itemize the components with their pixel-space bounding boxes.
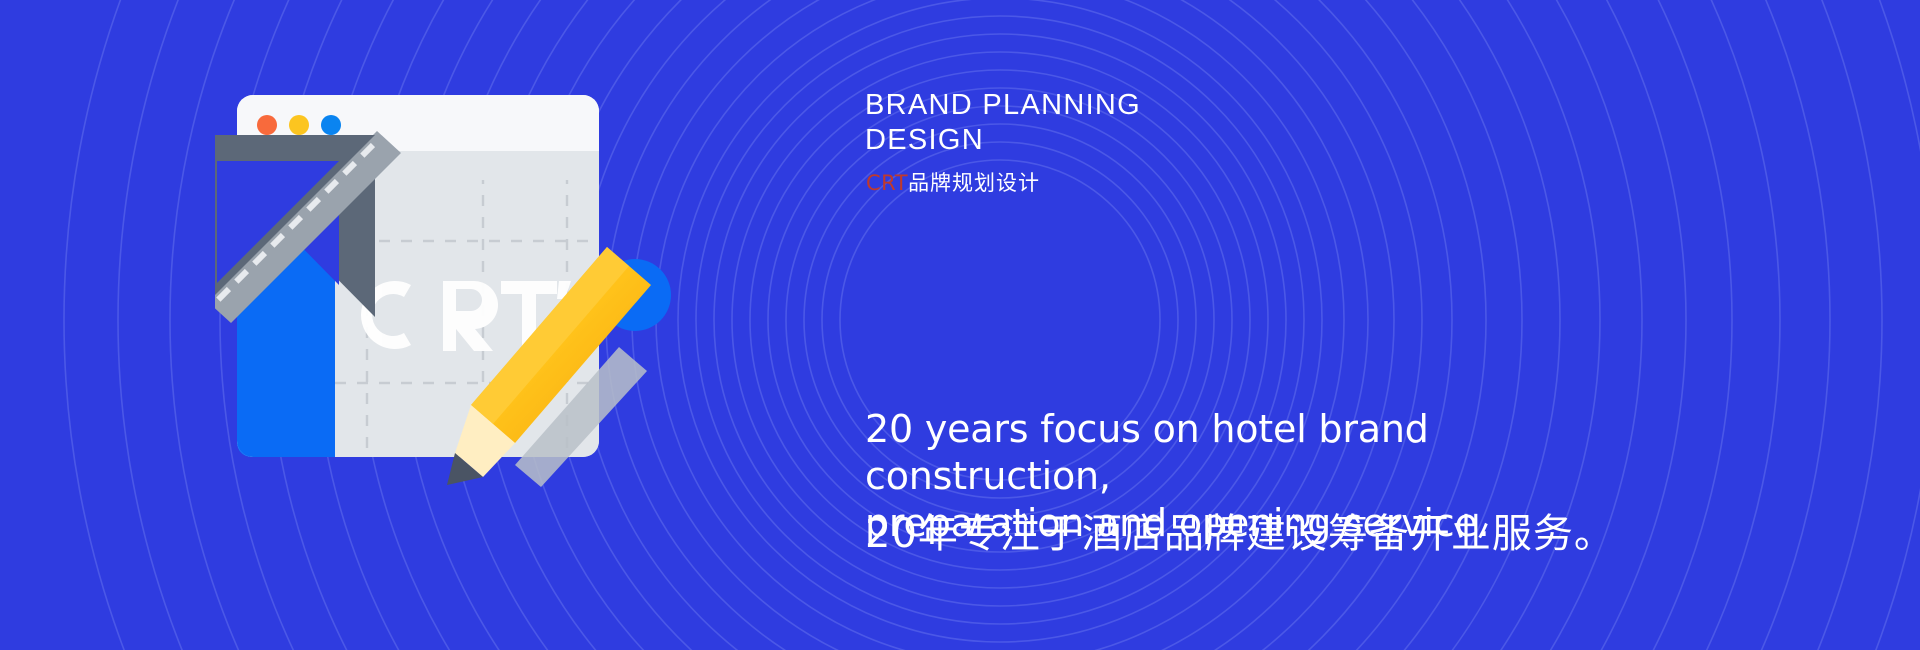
maximize-dot bbox=[321, 115, 341, 135]
eyebrow-heading: BRAND PLANNING DESIGN bbox=[865, 88, 1425, 158]
copy-column: BRAND PLANNING DESIGN CRT品牌规划设计 20 years… bbox=[865, 0, 1865, 650]
brand-banner: BRAND PLANNING DESIGN CRT品牌规划设计 20 years… bbox=[0, 0, 1920, 650]
design-illustration bbox=[215, 95, 835, 575]
minimize-dot bbox=[289, 115, 309, 135]
eyebrow-heading-chinese: CRT品牌规划设计 bbox=[866, 170, 1040, 196]
window-control-dots bbox=[257, 115, 341, 135]
eyebrow-brand-mark: CRT bbox=[866, 171, 908, 195]
close-dot bbox=[257, 115, 277, 135]
eyebrow-chinese-text: 品牌规划设计 bbox=[908, 171, 1040, 195]
tagline-chinese: 20年专注于酒店品牌建设筹备开业服务。 bbox=[865, 508, 1685, 560]
